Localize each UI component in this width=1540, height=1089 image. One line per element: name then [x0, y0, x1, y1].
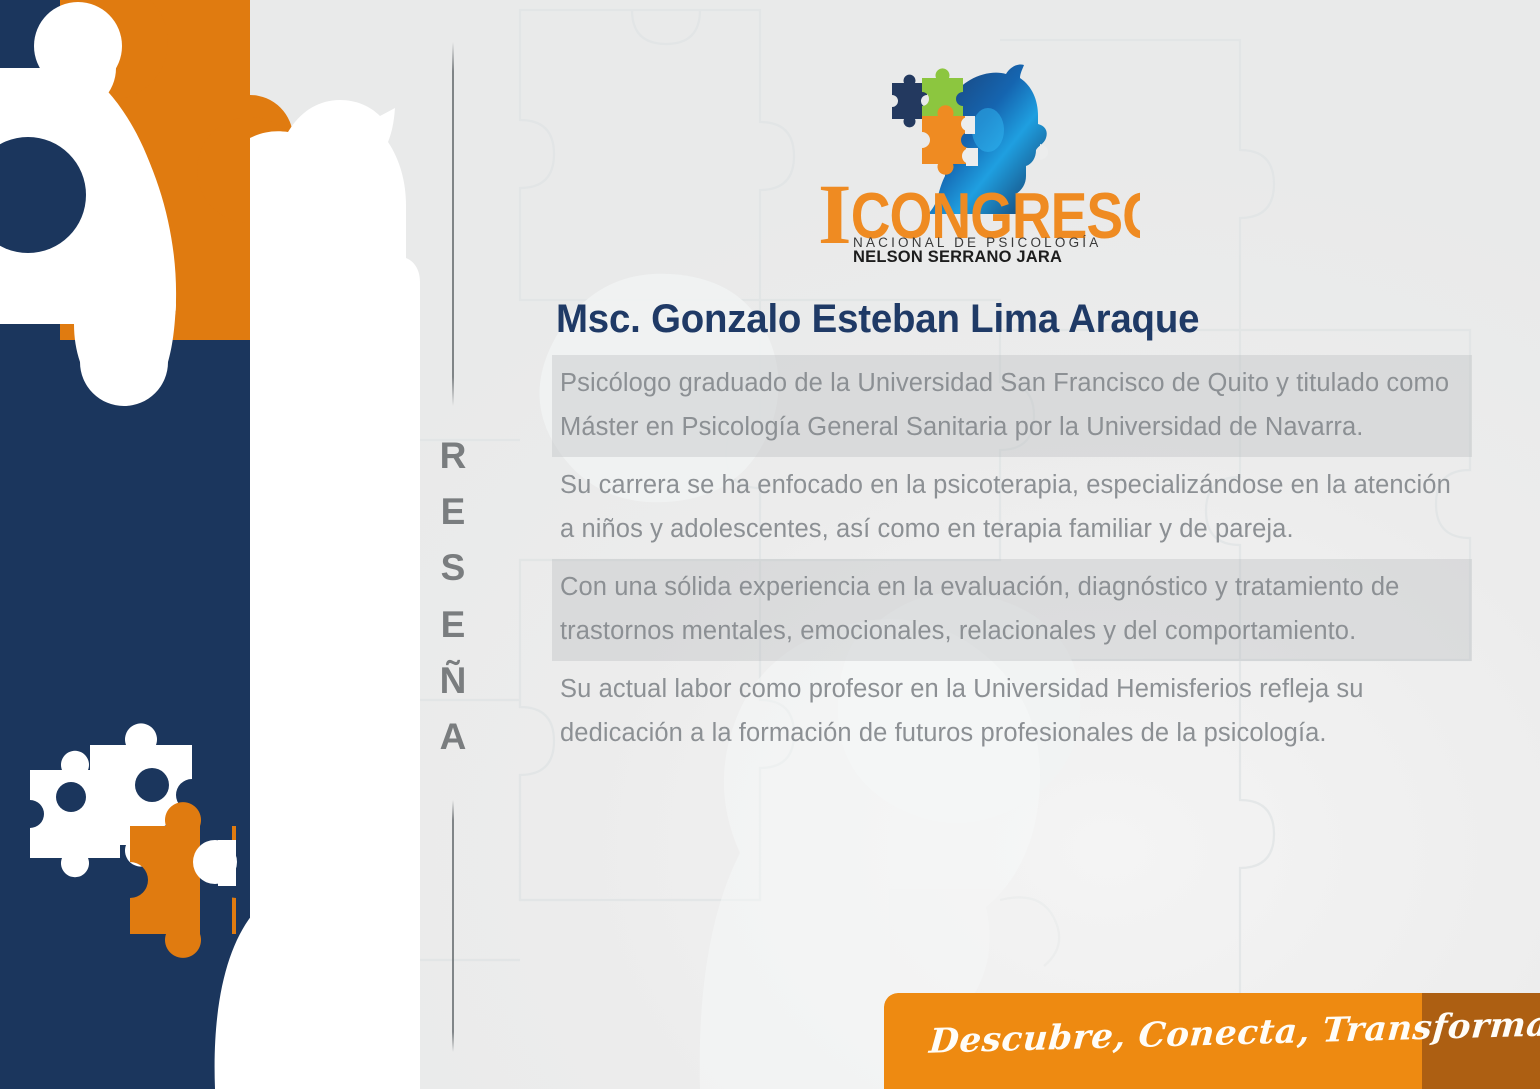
divider-line-top	[452, 42, 454, 406]
resena-letter-e2: E	[441, 597, 466, 653]
resena-letter-a: A	[440, 709, 467, 765]
page-title: Msc. Gonzalo Esteban Lima Araque	[556, 297, 1420, 342]
svg-text:I: I	[818, 166, 851, 262]
navy-sidebar	[0, 0, 250, 1089]
tagline-banner: Descubre, Conecta, Transforma...	[884, 993, 1540, 1089]
bio-paragraph-3: Con una sólida experiencia en la evaluac…	[552, 559, 1472, 661]
resena-letter-s: S	[441, 540, 466, 596]
divider-line-bottom	[452, 800, 454, 1052]
logo-puzzle-navy	[892, 75, 927, 128]
slide-canvas: R E S E Ñ A	[0, 0, 1540, 1089]
resena-letter-r: R	[440, 428, 467, 484]
bio-paragraph-1: Psicólogo graduado de la Universidad San…	[552, 355, 1472, 457]
bio-text-block: Psicólogo graduado de la Universidad San…	[552, 355, 1472, 763]
logo-numeral-i: I	[818, 166, 851, 262]
bio-paragraph-2: Su carrera se ha enfocado en la psicoter…	[552, 457, 1472, 559]
logo-honoree: NELSON SERRANO JARA	[853, 248, 1062, 263]
section-label-resena: R E S E Ñ A	[425, 428, 481, 765]
resena-letter-enye: Ñ	[440, 653, 467, 709]
resena-letter-e1: E	[441, 484, 466, 540]
bio-paragraph-4: Su actual labor como profesor en la Univ…	[552, 661, 1472, 763]
congress-logo: I CONGRESO NACIONAL DE PSICOLOGÍA NELSON…	[810, 58, 1140, 263]
